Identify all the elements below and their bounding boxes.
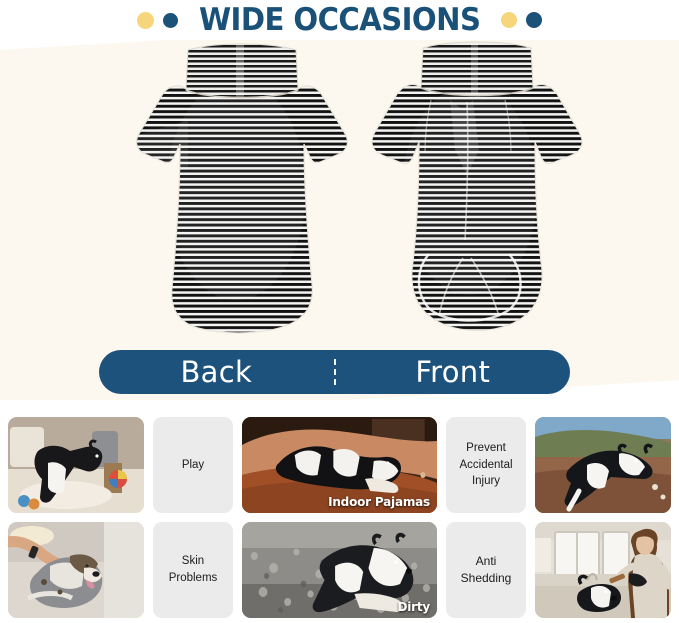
label-anti-shedding: Anti Shedding xyxy=(446,522,526,618)
dot-yellow-left-icon xyxy=(137,12,154,29)
label-play: Play xyxy=(153,417,233,513)
caption-dirty: Dirty xyxy=(397,600,430,614)
label-skin-problems: Skin Problems xyxy=(153,522,233,618)
photo-dog-on-bed: Indoor Pajamas xyxy=(242,417,437,513)
decor-dots-right xyxy=(501,12,542,28)
label-prevent-accidental-injury-text: Prevent Accidental Injury xyxy=(459,440,512,490)
banner-label-front: Front xyxy=(336,358,571,387)
occasions-grid: Play Indoor Pajamas Prevent Acciden xyxy=(8,417,671,615)
dot-yellow-right-icon xyxy=(501,12,517,28)
caption-indoor-pajamas: Indoor Pajamas xyxy=(328,495,430,509)
banner-divider xyxy=(334,359,336,385)
label-skin-problems-text: Skin Problems xyxy=(169,553,218,586)
label-play-text: Play xyxy=(182,457,204,474)
photo-dog-lying-on-gravel: Dirty xyxy=(242,522,437,618)
photo-dog-running-outdoors xyxy=(535,417,671,513)
photo-woman-brushing-dog xyxy=(535,522,671,618)
page-title: WIDE OCCASIONS xyxy=(199,2,480,38)
label-anti-shedding-text: Anti Shedding xyxy=(450,553,522,588)
hero-product-images xyxy=(0,34,679,344)
header-bar: WIDE OCCASIONS xyxy=(0,0,679,40)
banner-label-back: Back xyxy=(99,358,334,387)
photo-dog-being-groomed xyxy=(8,522,144,618)
decor-dots-left xyxy=(137,12,178,29)
dot-blue-left-icon xyxy=(163,13,178,28)
photo-dog-playing-indoors xyxy=(8,417,144,513)
dog-shirt-front-view xyxy=(355,40,585,350)
dot-blue-right-icon xyxy=(526,12,542,28)
back-front-banner: Back Front xyxy=(99,350,570,394)
label-prevent-accidental-injury: Prevent Accidental Injury xyxy=(446,417,526,513)
dog-shirt-back-view xyxy=(118,40,348,350)
